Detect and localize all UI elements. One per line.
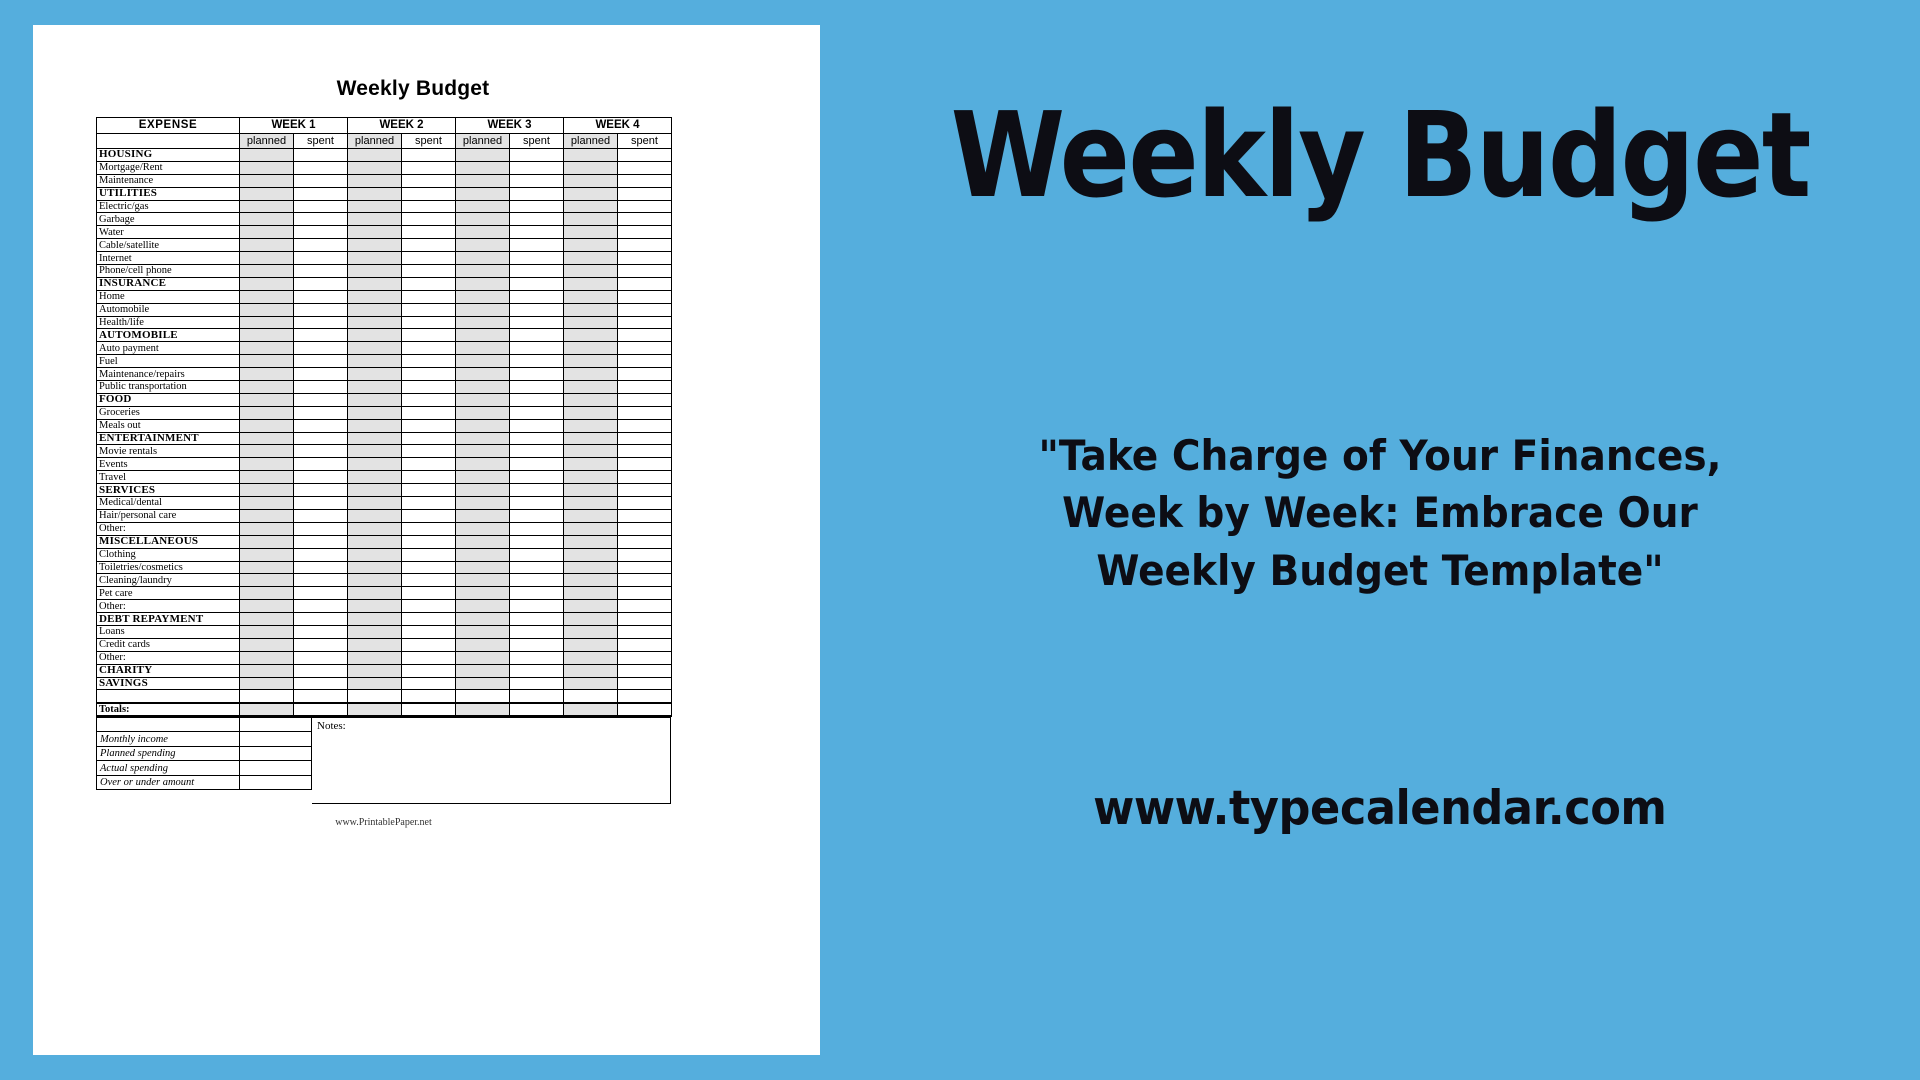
cell-week3-planned[interactable] [456,445,510,458]
cell-week3-planned[interactable] [456,432,510,445]
cell-week2-spent[interactable] [402,587,456,600]
cell-week4-spent[interactable] [618,509,672,522]
cell-week2-spent[interactable] [402,509,456,522]
cell-week1-planned[interactable] [240,471,294,484]
cell-week2-planned[interactable] [348,277,402,290]
cell-week2-planned[interactable] [348,445,402,458]
cell-week4-planned[interactable] [564,213,618,226]
cell-week3-spent[interactable] [510,226,564,239]
cell-week4-planned[interactable] [564,574,618,587]
cell-week3-spent[interactable] [510,664,564,677]
cell-week4-planned[interactable] [564,638,618,651]
cell-week1-spent[interactable] [294,406,348,419]
cell-week2-spent[interactable] [402,600,456,613]
cell-week3-spent[interactable] [510,187,564,200]
cell-week4-planned[interactable] [564,239,618,252]
cell-week2-planned[interactable] [348,303,402,316]
cell-week1-spent[interactable] [294,677,348,690]
cell-week2-spent[interactable] [402,497,456,510]
cell-week2-planned[interactable] [348,625,402,638]
cell-week3-planned[interactable] [456,381,510,394]
cell-week1-spent[interactable] [294,277,348,290]
cell-week2-spent[interactable] [402,239,456,252]
totals-week2-spent[interactable] [402,703,456,716]
cell-week3-spent[interactable] [510,548,564,561]
cell-week1-planned[interactable] [240,187,294,200]
cell-week2-planned[interactable] [348,535,402,548]
cell-week4-spent[interactable] [618,342,672,355]
cell-week2-spent[interactable] [402,381,456,394]
cell-week4-spent[interactable] [618,600,672,613]
cell-week2-spent[interactable] [402,548,456,561]
cell-week2-spent[interactable] [402,252,456,265]
cell-week1-planned[interactable] [240,561,294,574]
totals-week3-planned[interactable] [456,703,510,716]
cell-week3-planned[interactable] [456,393,510,406]
cell-week2-planned[interactable] [348,342,402,355]
cell-week3-spent[interactable] [510,484,564,497]
cell-week1-spent[interactable] [294,226,348,239]
cell-week2-planned[interactable] [348,265,402,278]
cell-week4-planned[interactable] [564,458,618,471]
cell-week4-planned[interactable] [564,677,618,690]
cell-week3-spent[interactable] [510,355,564,368]
cell-week2-planned[interactable] [348,561,402,574]
cell-week1-planned[interactable] [240,522,294,535]
cell-week1-planned[interactable] [240,342,294,355]
cell-week3-planned[interactable] [456,406,510,419]
cell-week1-spent[interactable] [294,419,348,432]
cell-week1-spent[interactable] [294,329,348,342]
cell-week2-spent[interactable] [402,149,456,162]
cell-week4-planned[interactable] [564,548,618,561]
cell-week1-spent[interactable] [294,664,348,677]
cell-week1-spent[interactable] [294,574,348,587]
cell-week1-planned[interactable] [240,226,294,239]
cell-week1-spent[interactable] [294,290,348,303]
cell-week4-planned[interactable] [564,252,618,265]
cell-week2-planned[interactable] [348,509,402,522]
cell-week3-spent[interactable] [510,613,564,626]
cell-week1-spent[interactable] [294,355,348,368]
cell-week4-planned[interactable] [564,535,618,548]
cell-week3-spent[interactable] [510,213,564,226]
cell-week3-planned[interactable] [456,419,510,432]
cell-week2-spent[interactable] [402,316,456,329]
cell-week1-planned[interactable] [240,355,294,368]
cell-week4-planned[interactable] [564,651,618,664]
cell-week2-spent[interactable] [402,484,456,497]
cell-week4-spent[interactable] [618,393,672,406]
cell-week1-planned[interactable] [240,329,294,342]
totals-week3-spent[interactable] [510,703,564,716]
cell-week1-spent[interactable] [294,213,348,226]
cell-week2-spent[interactable] [402,265,456,278]
summary-value[interactable] [240,732,312,747]
cell-week4-planned[interactable] [564,226,618,239]
cell-week1-planned[interactable] [240,200,294,213]
cell-week1-spent[interactable] [294,613,348,626]
totals-week4-planned[interactable] [564,703,618,716]
cell-week1-spent[interactable] [294,484,348,497]
cell-week4-spent[interactable] [618,316,672,329]
cell-week1-planned[interactable] [240,393,294,406]
cell-week4-planned[interactable] [564,200,618,213]
cell-week2-planned[interactable] [348,664,402,677]
cell-week3-spent[interactable] [510,406,564,419]
cell-week1-spent[interactable] [294,535,348,548]
cell-week4-planned[interactable] [564,316,618,329]
summary-value[interactable] [240,761,312,776]
cell-week4-spent[interactable] [618,638,672,651]
cell-week3-planned[interactable] [456,471,510,484]
cell-week1-spent[interactable] [294,174,348,187]
cell-week4-planned[interactable] [564,277,618,290]
cell-week3-spent[interactable] [510,277,564,290]
cell-week3-planned[interactable] [456,265,510,278]
cell-week2-spent[interactable] [402,406,456,419]
cell-week2-planned[interactable] [348,638,402,651]
cell-week1-planned[interactable] [240,277,294,290]
cell-week2-spent[interactable] [402,445,456,458]
cell-week3-planned[interactable] [456,651,510,664]
cell-week2-planned[interactable] [348,600,402,613]
cell-week3-spent[interactable] [510,497,564,510]
cell-week1-planned[interactable] [240,497,294,510]
promo-website-url[interactable]: www.typecalendar.com [1093,781,1666,836]
cell-week3-spent[interactable] [510,445,564,458]
cell-week3-planned[interactable] [456,638,510,651]
cell-week3-spent[interactable] [510,471,564,484]
cell-week2-spent[interactable] [402,393,456,406]
cell-week2-planned[interactable] [348,329,402,342]
cell-week4-planned[interactable] [564,161,618,174]
cell-week4-spent[interactable] [618,497,672,510]
cell-week1-spent[interactable] [294,200,348,213]
cell-week1-spent[interactable] [294,239,348,252]
cell-week4-spent[interactable] [618,303,672,316]
cell-week1-planned[interactable] [240,484,294,497]
summary-value[interactable] [240,746,312,761]
cell-week1-planned[interactable] [240,548,294,561]
cell-week4-planned[interactable] [564,329,618,342]
cell-week1-planned[interactable] [240,174,294,187]
cell-week4-planned[interactable] [564,664,618,677]
cell-week1-planned[interactable] [240,600,294,613]
cell-week4-spent[interactable] [618,574,672,587]
cell-week2-planned[interactable] [348,200,402,213]
cell-week1-spent[interactable] [294,161,348,174]
cell-week2-planned[interactable] [348,316,402,329]
cell-week3-planned[interactable] [456,329,510,342]
cell-week3-planned[interactable] [456,252,510,265]
cell-week4-planned[interactable] [564,471,618,484]
cell-week3-planned[interactable] [456,509,510,522]
cell-week3-planned[interactable] [456,290,510,303]
cell-week2-spent[interactable] [402,522,456,535]
cell-week3-spent[interactable] [510,381,564,394]
cell-week4-spent[interactable] [618,561,672,574]
cell-week4-planned[interactable] [564,406,618,419]
cell-week2-spent[interactable] [402,471,456,484]
cell-week3-planned[interactable] [456,548,510,561]
cell-week2-spent[interactable] [402,535,456,548]
cell-week2-spent[interactable] [402,664,456,677]
cell-week2-spent[interactable] [402,226,456,239]
cell-week2-spent[interactable] [402,458,456,471]
cell-week3-planned[interactable] [456,574,510,587]
cell-week2-planned[interactable] [348,458,402,471]
cell-week2-spent[interactable] [402,213,456,226]
cell-week4-spent[interactable] [618,368,672,381]
cell-week1-planned[interactable] [240,381,294,394]
cell-week1-planned[interactable] [240,625,294,638]
cell-week2-planned[interactable] [348,613,402,626]
cell-week4-spent[interactable] [618,458,672,471]
cell-week3-planned[interactable] [456,355,510,368]
cell-week3-spent[interactable] [510,535,564,548]
cell-week2-spent[interactable] [402,200,456,213]
cell-week3-spent[interactable] [510,303,564,316]
cell-week1-spent[interactable] [294,625,348,638]
cell-week2-planned[interactable] [348,239,402,252]
totals-week2-planned[interactable] [348,703,402,716]
cell-week3-planned[interactable] [456,277,510,290]
cell-week1-planned[interactable] [240,290,294,303]
cell-week2-spent[interactable] [402,638,456,651]
cell-week2-planned[interactable] [348,406,402,419]
cell-week2-spent[interactable] [402,290,456,303]
cell-week1-planned[interactable] [240,445,294,458]
cell-week3-spent[interactable] [510,252,564,265]
cell-week4-planned[interactable] [564,587,618,600]
cell-week2-planned[interactable] [348,484,402,497]
cell-week4-spent[interactable] [618,290,672,303]
cell-week3-planned[interactable] [456,342,510,355]
cell-week3-spent[interactable] [510,587,564,600]
cell-week1-spent[interactable] [294,522,348,535]
cell-week3-planned[interactable] [456,561,510,574]
cell-week1-spent[interactable] [294,393,348,406]
cell-week4-spent[interactable] [618,381,672,394]
cell-week4-planned[interactable] [564,600,618,613]
cell-week3-spent[interactable] [510,522,564,535]
totals-week1-planned[interactable] [240,703,294,716]
cell-week2-planned[interactable] [348,432,402,445]
cell-week2-planned[interactable] [348,497,402,510]
cell-week1-planned[interactable] [240,316,294,329]
cell-week4-spent[interactable] [618,664,672,677]
cell-week2-planned[interactable] [348,548,402,561]
cell-week3-spent[interactable] [510,368,564,381]
cell-week1-planned[interactable] [240,638,294,651]
cell-week4-planned[interactable] [564,445,618,458]
cell-week3-spent[interactable] [510,239,564,252]
cell-week1-planned[interactable] [240,149,294,162]
cell-week1-planned[interactable] [240,535,294,548]
cell-week4-spent[interactable] [618,419,672,432]
cell-week3-spent[interactable] [510,651,564,664]
cell-week4-spent[interactable] [618,471,672,484]
cell-week3-spent[interactable] [510,290,564,303]
cell-week3-planned[interactable] [456,213,510,226]
cell-week1-spent[interactable] [294,561,348,574]
cell-week3-spent[interactable] [510,174,564,187]
cell-week3-spent[interactable] [510,574,564,587]
cell-week2-spent[interactable] [402,574,456,587]
cell-week4-planned[interactable] [564,290,618,303]
cell-week2-spent[interactable] [402,368,456,381]
cell-week2-planned[interactable] [348,290,402,303]
cell-week2-planned[interactable] [348,226,402,239]
cell-week1-spent[interactable] [294,368,348,381]
cell-week4-planned[interactable] [564,265,618,278]
cell-week3-planned[interactable] [456,226,510,239]
cell-week1-spent[interactable] [294,497,348,510]
cell-week3-spent[interactable] [510,600,564,613]
cell-week1-planned[interactable] [240,574,294,587]
cell-week2-planned[interactable] [348,419,402,432]
cell-week4-spent[interactable] [618,484,672,497]
cell-week3-spent[interactable] [510,561,564,574]
cell-week4-spent[interactable] [618,677,672,690]
cell-week4-planned[interactable] [564,522,618,535]
cell-week3-spent[interactable] [510,342,564,355]
cell-week3-spent[interactable] [510,625,564,638]
cell-week2-spent[interactable] [402,161,456,174]
cell-week1-spent[interactable] [294,149,348,162]
cell-week1-planned[interactable] [240,677,294,690]
cell-week4-spent[interactable] [618,226,672,239]
cell-week4-spent[interactable] [618,213,672,226]
cell-week3-planned[interactable] [456,587,510,600]
cell-week4-planned[interactable] [564,509,618,522]
cell-week4-spent[interactable] [618,406,672,419]
cell-week4-spent[interactable] [618,277,672,290]
totals-week1-spent[interactable] [294,703,348,716]
cell-week4-spent[interactable] [618,625,672,638]
cell-week4-spent[interactable] [618,522,672,535]
cell-week3-spent[interactable] [510,149,564,162]
cell-week1-planned[interactable] [240,432,294,445]
cell-week4-planned[interactable] [564,149,618,162]
cell-week4-planned[interactable] [564,432,618,445]
cell-week4-planned[interactable] [564,355,618,368]
cell-week1-spent[interactable] [294,342,348,355]
cell-week2-spent[interactable] [402,419,456,432]
cell-week4-planned[interactable] [564,419,618,432]
cell-week4-spent[interactable] [618,252,672,265]
cell-week3-planned[interactable] [456,677,510,690]
cell-week4-spent[interactable] [618,187,672,200]
cell-week3-spent[interactable] [510,638,564,651]
cell-week3-planned[interactable] [456,535,510,548]
cell-week1-planned[interactable] [240,239,294,252]
cell-week1-planned[interactable] [240,587,294,600]
cell-week3-spent[interactable] [510,316,564,329]
cell-week4-spent[interactable] [618,432,672,445]
cell-week4-planned[interactable] [564,303,618,316]
cell-week2-planned[interactable] [348,522,402,535]
cell-week2-planned[interactable] [348,587,402,600]
cell-week4-spent[interactable] [618,174,672,187]
cell-week3-spent[interactable] [510,161,564,174]
cell-week2-spent[interactable] [402,277,456,290]
cell-week1-planned[interactable] [240,509,294,522]
cell-week2-spent[interactable] [402,613,456,626]
cell-week4-planned[interactable] [564,625,618,638]
cell-week2-spent[interactable] [402,625,456,638]
cell-week2-planned[interactable] [348,471,402,484]
cell-week3-spent[interactable] [510,265,564,278]
cell-week2-planned[interactable] [348,161,402,174]
cell-week2-spent[interactable] [402,432,456,445]
cell-week1-spent[interactable] [294,316,348,329]
cell-week1-planned[interactable] [240,213,294,226]
cell-week1-spent[interactable] [294,509,348,522]
cell-week3-planned[interactable] [456,484,510,497]
cell-week2-planned[interactable] [348,149,402,162]
cell-week2-spent[interactable] [402,677,456,690]
cell-week1-planned[interactable] [240,265,294,278]
cell-week2-spent[interactable] [402,342,456,355]
cell-week1-planned[interactable] [240,613,294,626]
cell-week3-spent[interactable] [510,458,564,471]
cell-week4-spent[interactable] [618,548,672,561]
cell-week3-planned[interactable] [456,600,510,613]
cell-week4-planned[interactable] [564,368,618,381]
cell-week4-planned[interactable] [564,174,618,187]
cell-week1-spent[interactable] [294,187,348,200]
cell-week3-planned[interactable] [456,161,510,174]
summary-value[interactable] [240,717,312,732]
cell-week4-planned[interactable] [564,497,618,510]
cell-week3-planned[interactable] [456,187,510,200]
cell-week1-spent[interactable] [294,381,348,394]
cell-week3-spent[interactable] [510,329,564,342]
cell-week1-planned[interactable] [240,419,294,432]
cell-week3-planned[interactable] [456,303,510,316]
cell-week2-spent[interactable] [402,561,456,574]
cell-week2-planned[interactable] [348,651,402,664]
cell-week2-planned[interactable] [348,213,402,226]
cell-week2-planned[interactable] [348,381,402,394]
cell-week3-spent[interactable] [510,432,564,445]
cell-week2-planned[interactable] [348,368,402,381]
cell-week4-spent[interactable] [618,265,672,278]
cell-week2-spent[interactable] [402,651,456,664]
cell-week2-planned[interactable] [348,174,402,187]
cell-week4-planned[interactable] [564,187,618,200]
cell-week2-planned[interactable] [348,252,402,265]
cell-week1-spent[interactable] [294,651,348,664]
cell-week1-planned[interactable] [240,651,294,664]
summary-value[interactable] [240,775,312,790]
cell-week1-spent[interactable] [294,252,348,265]
cell-week3-planned[interactable] [456,664,510,677]
cell-week2-spent[interactable] [402,329,456,342]
cell-week4-spent[interactable] [618,149,672,162]
cell-week4-spent[interactable] [618,535,672,548]
cell-week2-planned[interactable] [348,393,402,406]
cell-week3-planned[interactable] [456,522,510,535]
cell-week4-spent[interactable] [618,200,672,213]
cell-week4-spent[interactable] [618,587,672,600]
cell-week2-spent[interactable] [402,355,456,368]
cell-week3-spent[interactable] [510,393,564,406]
cell-week2-planned[interactable] [348,355,402,368]
cell-week1-spent[interactable] [294,548,348,561]
